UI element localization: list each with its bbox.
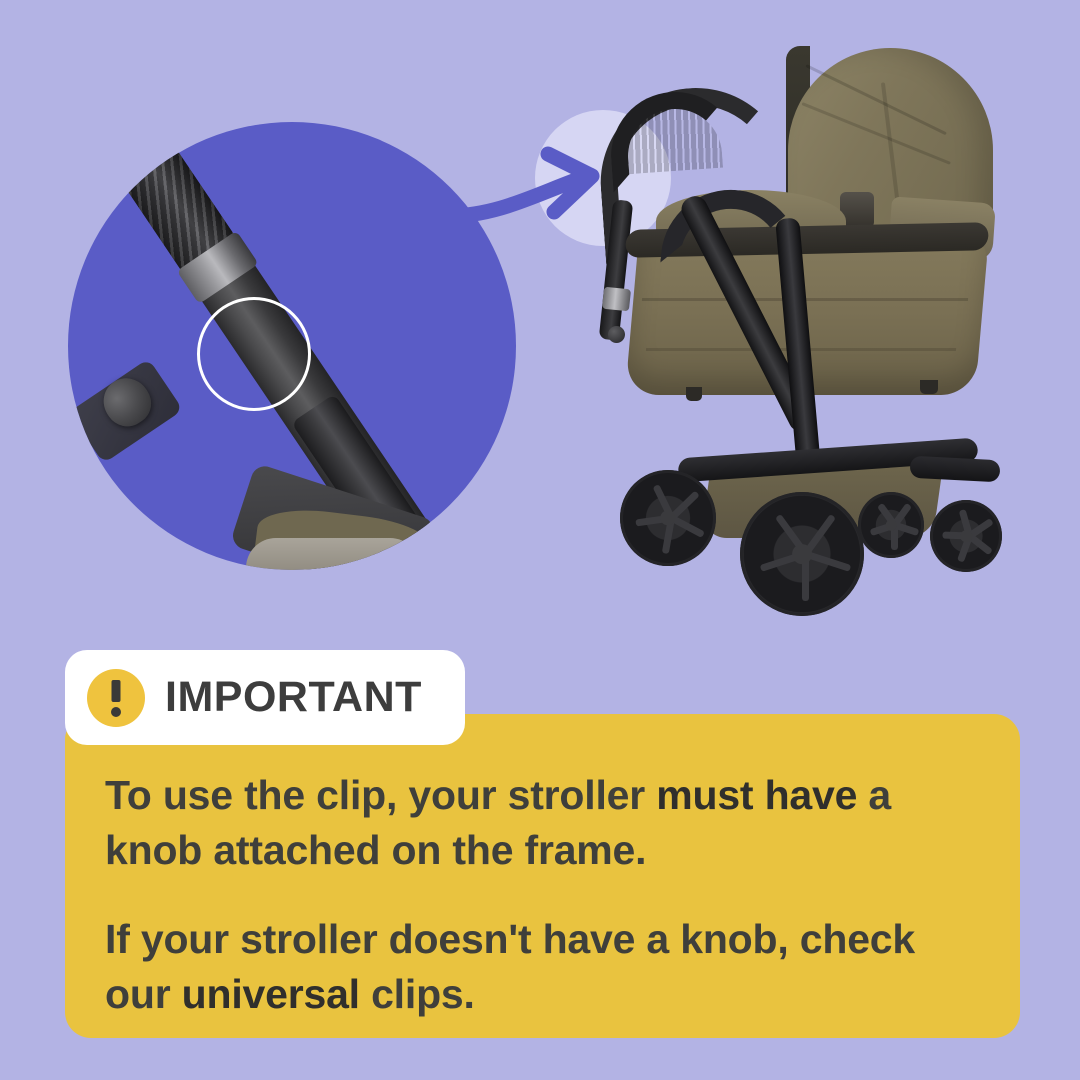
notice-paragraph-2: If your stroller doesn't have a knob, ch… <box>105 912 975 1022</box>
plain-text: To use the clip, your stroller <box>105 772 656 818</box>
wheel-front-inner <box>620 470 716 566</box>
exclamation-icon <box>87 669 145 727</box>
emphasized-text: must have <box>656 772 857 818</box>
bassinet-foot <box>686 387 702 401</box>
frame-knob <box>608 326 625 343</box>
important-badge: IMPORTANT <box>65 650 465 745</box>
poster-canvas: IMPORTANT To use the clip, your stroller… <box>0 0 1080 1080</box>
product-illustration <box>0 0 1080 630</box>
notice-text-block: To use the clip, your stroller must have… <box>105 768 975 1022</box>
wheel-rear-inner <box>858 492 924 558</box>
emphasized-text: universal <box>182 971 360 1017</box>
chassis-rear-bar <box>909 456 1000 483</box>
plain-text: clips. <box>360 971 475 1017</box>
wheel-base-zoomed <box>246 538 420 570</box>
notice-paragraph-1: To use the clip, your stroller must have… <box>105 768 975 878</box>
handlebar-collar <box>602 287 631 312</box>
stroller-with-bassinet <box>590 40 1060 610</box>
wheel-front-outer <box>740 492 864 616</box>
bassinet-foot <box>920 380 938 394</box>
knob-highlight-ring-icon <box>197 297 311 411</box>
important-label: IMPORTANT <box>165 676 422 719</box>
wheel-rear-outer <box>930 500 1002 572</box>
